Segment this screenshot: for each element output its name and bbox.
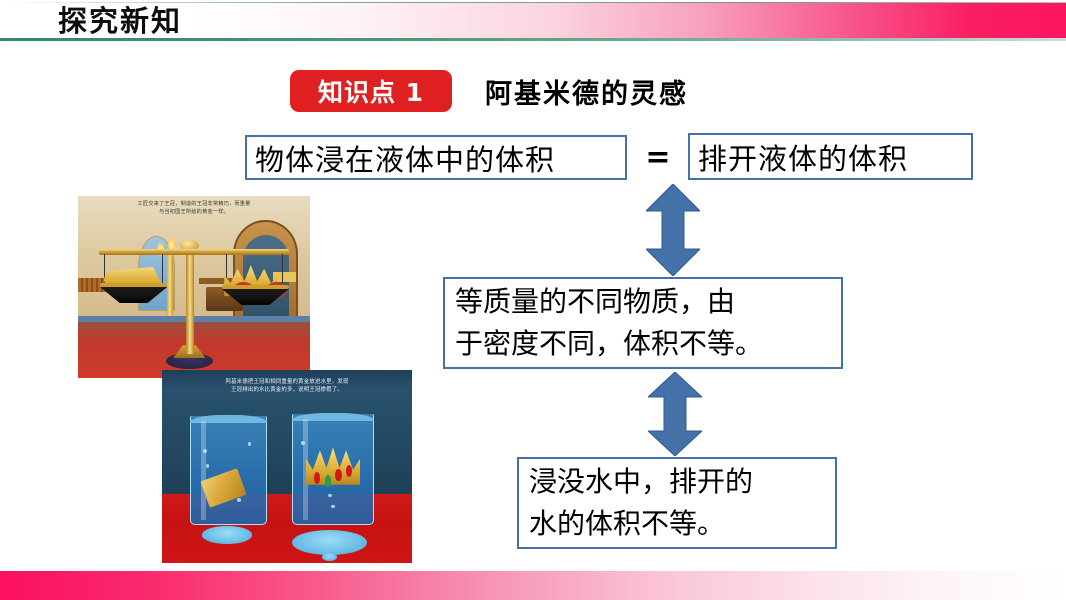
statement-bottom-line2: 水的体积不等。: [529, 503, 725, 545]
water-puddle-left: [202, 526, 252, 543]
equation-left-box: 物体浸在液体中的体积: [245, 135, 627, 180]
double-arrow-bottom-icon: [648, 372, 702, 456]
scale-string-left: [162, 254, 163, 285]
bubble-icon: [331, 505, 334, 508]
balance-caption-line2: 与当初国王所给的黄金一样。: [78, 208, 310, 216]
glasses-caption-line1: 阿基米德把王冠和相同重量的黄金放进水里，发现: [177, 378, 397, 387]
double-arrow-top-icon: [646, 184, 700, 276]
bubble-icon: [301, 441, 305, 445]
bubble-icon: [237, 498, 241, 502]
bottom-banner: [0, 571, 1066, 600]
bubble-icon: [248, 442, 252, 446]
statement-bottom-box: 浸没水中，排开的 水的体积不等。: [517, 457, 837, 549]
scale-post: [186, 245, 194, 354]
crown-gem-red: [314, 472, 320, 484]
crown-gem-red: [335, 469, 341, 481]
statement-middle-box: 等质量的不同物质，由 于密度不同，体积不等。: [443, 277, 843, 369]
statement-middle-line2: 于密度不同，体积不等。: [455, 323, 763, 365]
glasses-image-caption: 阿基米德把王冠和相同重量的黄金放进水里，发现 王冠排出的水比黄金的多，说明王冠掺…: [177, 378, 397, 395]
bubble-icon: [203, 449, 208, 453]
equals-sign: =: [638, 135, 678, 180]
scale-beam: [99, 249, 289, 255]
balance-scale-illustration: 工匠交来了王冠，制造的王冠非常精巧，而重量 与当初国王所给的黄金一样。: [78, 196, 310, 378]
page-title: 探究新知: [58, 2, 182, 40]
glass-with-crown: [292, 414, 374, 525]
scale-string-right: [282, 254, 283, 285]
glass-shine-left: [201, 421, 206, 520]
scale-pan-rim-left: [100, 283, 167, 287]
scale-pan-rim-right: [222, 285, 289, 289]
balance-caption-line1: 工匠交来了王冠，制造的王冠非常精巧，而重量: [78, 200, 310, 208]
water-displacement-illustration: 阿基米德把王冠和相同重量的黄金放进水里，发现 王冠排出的水比黄金的多，说明王冠掺…: [162, 370, 412, 563]
knowledge-point-badge: 知识点 1: [290, 70, 452, 112]
bubble-icon: [328, 494, 332, 498]
equation-right-box: 排开液体的体积: [688, 133, 973, 180]
crown-gem-green: [325, 475, 331, 487]
knowledge-point-heading: 阿基米德的灵感: [485, 70, 688, 112]
glass-with-gold-bar: [190, 416, 267, 525]
balance-image-caption: 工匠交来了王冠，制造的王冠非常精巧，而重量 与当初国王所给的黄金一样。: [78, 196, 310, 216]
statement-middle-line1: 等质量的不同物质，由: [455, 281, 735, 323]
bubble-icon: [206, 464, 210, 468]
statement-bottom-line1: 浸没水中，排开的: [529, 461, 753, 503]
glasses-caption-line2: 王冠排出的水比黄金的多，说明王冠掺假了。: [177, 386, 397, 395]
